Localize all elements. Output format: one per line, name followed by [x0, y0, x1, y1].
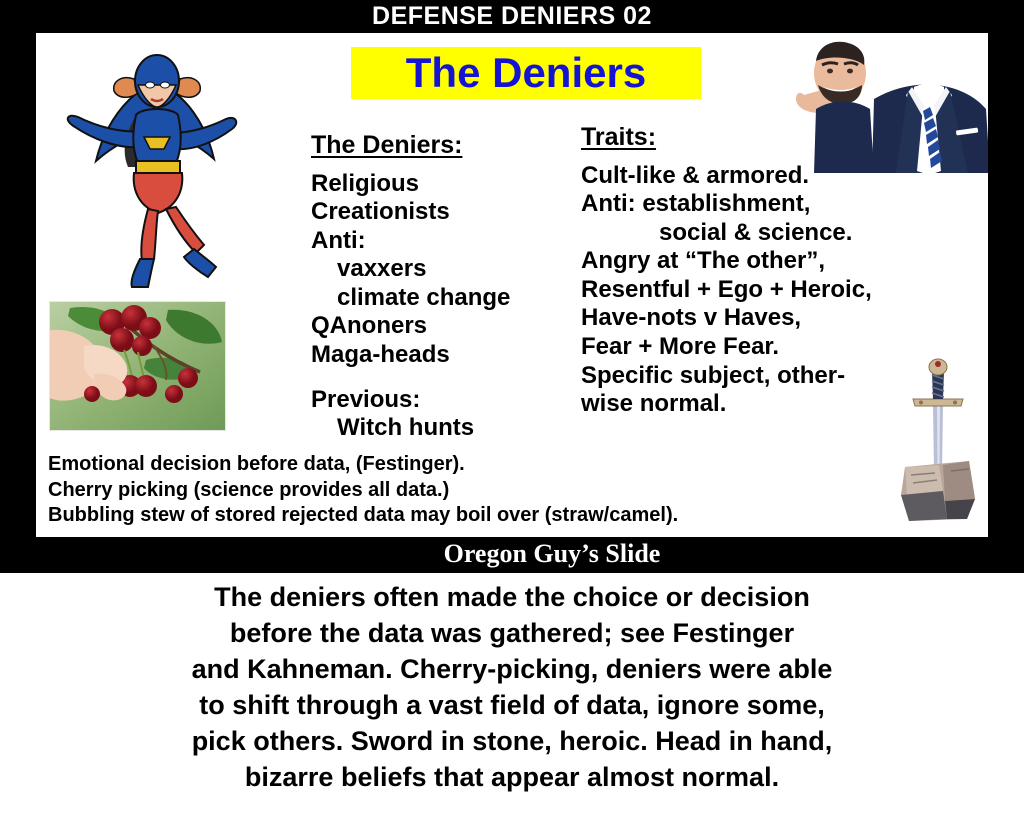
title-banner: The Deniers — [351, 47, 701, 99]
superheroine-icon — [56, 41, 256, 291]
note-line: Bubbling stew of stored rejected data ma… — [48, 503, 878, 529]
deniers-item: climate change — [311, 284, 581, 313]
slide-footer-credit: Oregon Guy’s Slide — [0, 537, 1024, 571]
note-line: Cherry picking (science provides all dat… — [48, 478, 878, 504]
banner-text: The Deniers — [406, 52, 646, 94]
deniers-item: Religious — [311, 170, 581, 199]
deniers-item: vaxxers — [311, 255, 581, 284]
deniers-item: Maga-heads — [311, 341, 581, 370]
traits-item: Anti: establishment, — [581, 190, 911, 219]
traits-item: Have-nots v Haves, — [581, 304, 911, 333]
slide-frame: DEFENSE DENIERS 02 — [0, 0, 1024, 573]
slide-title: DEFENSE DENIERS 02 — [0, 1, 1024, 31]
slide-notes: Emotional decision before data, (Festing… — [48, 452, 878, 529]
previous-subheading: Previous: — [311, 386, 581, 415]
traits-item: social & science. — [581, 219, 911, 248]
slide-card: The Deniers The Deniers: Religious Creat… — [36, 33, 988, 537]
traits-item: Specific subject, other- — [581, 362, 911, 391]
traits-item: Fear + More Fear. — [581, 333, 911, 362]
cherry-picking-photo — [49, 301, 226, 431]
caption-line: The deniers often made the choice or dec… — [0, 580, 1024, 616]
traits-item: wise normal. — [581, 390, 911, 419]
deniers-column: The Deniers: Religious Creationists Anti… — [311, 131, 581, 443]
deniers-column-heading: The Deniers: — [311, 131, 581, 160]
traits-item: Resentful + Ego + Heroic, — [581, 276, 911, 305]
deniers-item: Creationists — [311, 198, 581, 227]
caption-line: bizarre beliefs that appear almost norma… — [0, 760, 1024, 796]
traits-item: Cult-like & armored. — [581, 162, 911, 191]
caption-line: before the data was gathered; see Festin… — [0, 616, 1024, 652]
traits-column: Traits: Cult-like & armored. Anti: estab… — [581, 123, 911, 419]
deniers-item: QAnoners — [311, 312, 581, 341]
traits-item: Angry at “The other”, — [581, 247, 911, 276]
caption-block: The deniers often made the choice or dec… — [0, 580, 1024, 795]
slide-page: DEFENSE DENIERS 02 — [0, 0, 1024, 832]
caption-line: and Kahneman. Cherry-picking, deniers we… — [0, 652, 1024, 688]
note-line: Emotional decision before data, (Festing… — [48, 452, 878, 478]
caption-line: to shift through a vast field of data, i… — [0, 688, 1024, 724]
traits-column-heading: Traits: — [581, 123, 911, 152]
previous-item: Witch hunts — [311, 414, 581, 443]
deniers-item: Anti: — [311, 227, 581, 256]
caption-line: pick others. Sword in stone, heroic. Hea… — [0, 724, 1024, 760]
